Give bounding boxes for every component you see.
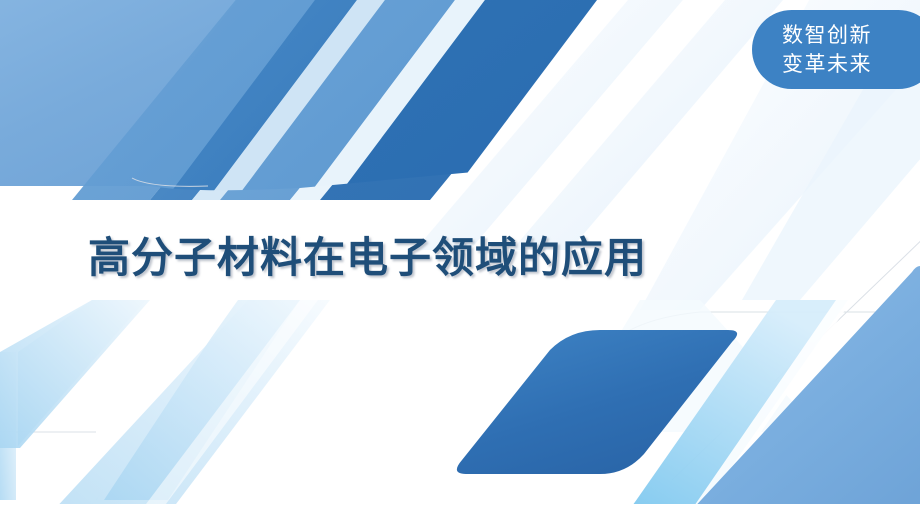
badge-line-2: 变革未来 [782,50,872,79]
badge-line-1: 数智创新 [782,21,872,50]
slide-canvas: 数智创新 变革未来 高分子材料在电子领域的应用 [0,0,920,518]
page-title: 高分子材料在电子领域的应用 [88,230,647,286]
bottom-white-strip [0,504,920,518]
corner-badge: 数智创新 变革未来 [752,10,920,89]
